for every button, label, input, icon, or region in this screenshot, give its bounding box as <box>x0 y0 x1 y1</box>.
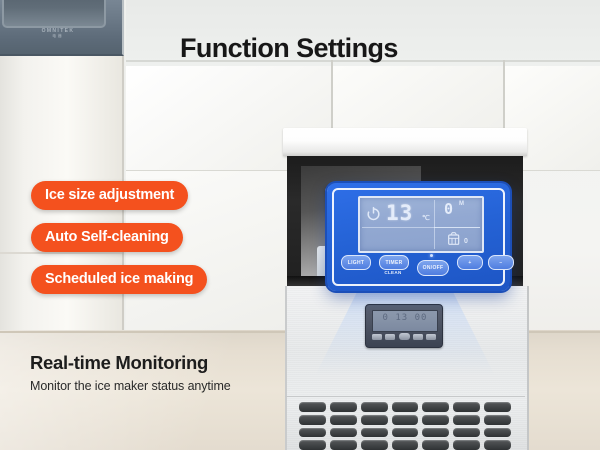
led-indicator-dot <box>430 254 433 257</box>
light-button[interactable]: LIGHT <box>341 255 371 270</box>
vent-slot <box>392 440 419 450</box>
control-button-row: LIGHT TIMER CLEAN ON/OFF + − <box>341 255 496 283</box>
mini-light-button[interactable] <box>372 334 382 340</box>
vent-slot <box>422 415 449 425</box>
vent-slot <box>330 402 357 412</box>
vent-slot <box>453 440 480 450</box>
page-title: Function Settings <box>180 33 398 64</box>
vent-slot <box>330 415 357 425</box>
vent-slot <box>392 428 419 438</box>
vent-slot <box>361 440 388 450</box>
vent-slot <box>484 402 511 412</box>
vent-slot <box>361 402 388 412</box>
machine-body-divider <box>285 396 525 397</box>
vent-slot <box>361 415 388 425</box>
lcd-display: 13 ℃ 0 M 0 <box>358 196 484 253</box>
vent-slot <box>484 428 511 438</box>
highlight-subtitle: Monitor the ice maker status anytime <box>30 379 231 393</box>
mini-timer-button[interactable] <box>385 334 395 340</box>
vent-slot <box>299 415 326 425</box>
timer-button[interactable]: TIMER <box>379 255 409 270</box>
appliance-face <box>2 0 106 28</box>
mini-minus-button[interactable] <box>426 334 436 340</box>
temperature-unit: ℃ <box>422 214 430 222</box>
power-on-off-button[interactable]: ON/OFF <box>417 260 449 276</box>
vent-slot <box>422 440 449 450</box>
lcd-divider-vertical <box>434 200 435 249</box>
machine-top-surface <box>283 128 527 156</box>
mini-lcd-readout: 0 13 00 <box>373 313 437 323</box>
minus-button[interactable]: − <box>488 255 514 270</box>
vent-slot <box>392 415 419 425</box>
appliance-brand-label: OMNITEK 电器 <box>0 28 122 39</box>
vent-slot <box>453 402 480 412</box>
mini-power-button[interactable] <box>399 333 410 340</box>
vent-slot <box>453 428 480 438</box>
vent-slot <box>299 440 326 450</box>
product-marketing-image: OMNITEK 电器 0 13 00 <box>0 0 600 450</box>
mini-plus-button[interactable] <box>413 334 423 340</box>
vent-slot <box>484 415 511 425</box>
vent-slot <box>330 440 357 450</box>
ice-level-value: 0 <box>464 238 468 245</box>
feature-badge-list: Ice size adjustment Auto Self-cleaning S… <box>31 181 207 307</box>
timer-unit: M <box>459 201 464 207</box>
machine-control-panel-actual[interactable]: 0 13 00 <box>365 304 443 348</box>
vent-slot <box>392 402 419 412</box>
feature-badge-self-cleaning[interactable]: Auto Self-cleaning <box>31 223 183 252</box>
temperature-value: 13 <box>386 203 413 224</box>
vent-slot <box>299 428 326 438</box>
mini-button-row <box>372 333 436 340</box>
vent-slot <box>299 402 326 412</box>
machine-vent-grille <box>299 402 511 450</box>
vent-slot <box>484 440 511 450</box>
vent-slot <box>330 428 357 438</box>
clean-sublabel: CLEAN <box>379 270 407 275</box>
timer-value: 0 <box>444 202 453 217</box>
vent-slot <box>453 415 480 425</box>
plus-button[interactable]: + <box>457 255 483 270</box>
vent-slot <box>422 402 449 412</box>
highlight-title: Real-time Monitoring <box>30 352 231 374</box>
highlight-block: Real-time Monitoring Monitor the ice mak… <box>30 352 231 393</box>
mini-lcd-screen: 0 13 00 <box>372 310 438 332</box>
overhead-appliance: OMNITEK 电器 <box>0 0 124 56</box>
feature-badge-scheduled-ice[interactable]: Scheduled ice making <box>31 265 207 294</box>
feature-badge-ice-size[interactable]: Ice size adjustment <box>31 181 188 210</box>
lcd-divider-horizontal-right <box>434 227 480 228</box>
control-panel-callout[interactable]: 13 ℃ 0 M 0 LIGHT TIMER CLEAN ON/OFF + − <box>327 183 510 291</box>
vent-slot <box>422 428 449 438</box>
power-icon <box>366 206 381 221</box>
vent-slot <box>361 428 388 438</box>
ice-cube-icon <box>446 231 462 247</box>
appliance-brand-subtext: 电器 <box>0 34 122 39</box>
